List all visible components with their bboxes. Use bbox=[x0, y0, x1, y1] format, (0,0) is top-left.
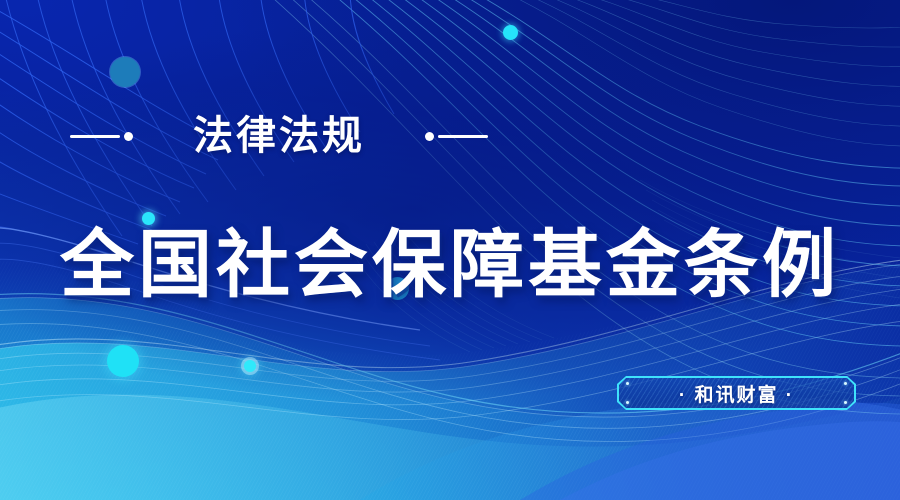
decorative-dot-cyan-small bbox=[503, 25, 518, 40]
source-badge: · 和讯财富 · bbox=[617, 376, 856, 410]
subtitle-row: 法律法规 bbox=[70, 116, 488, 156]
banner-graphic: 法律法规 全国社会保障基金条例 · 和讯财富 · bbox=[0, 0, 900, 500]
left-rule-decoration bbox=[70, 132, 133, 141]
left-rule-line bbox=[70, 135, 120, 138]
page-title: 全国社会保障基金条例 bbox=[0, 228, 900, 302]
source-badge-label: · 和讯财富 · bbox=[617, 376, 856, 410]
right-rule-line bbox=[438, 135, 488, 138]
left-rule-dot bbox=[124, 132, 133, 141]
right-rule-dot bbox=[425, 132, 434, 141]
subtitle-text: 法律法规 bbox=[133, 116, 425, 156]
decorative-dot-cyan-halo bbox=[244, 360, 256, 372]
right-rule-decoration bbox=[425, 132, 488, 141]
decorative-dot-cyan-large bbox=[107, 345, 139, 377]
decorative-dot-steel-blue bbox=[110, 57, 140, 87]
